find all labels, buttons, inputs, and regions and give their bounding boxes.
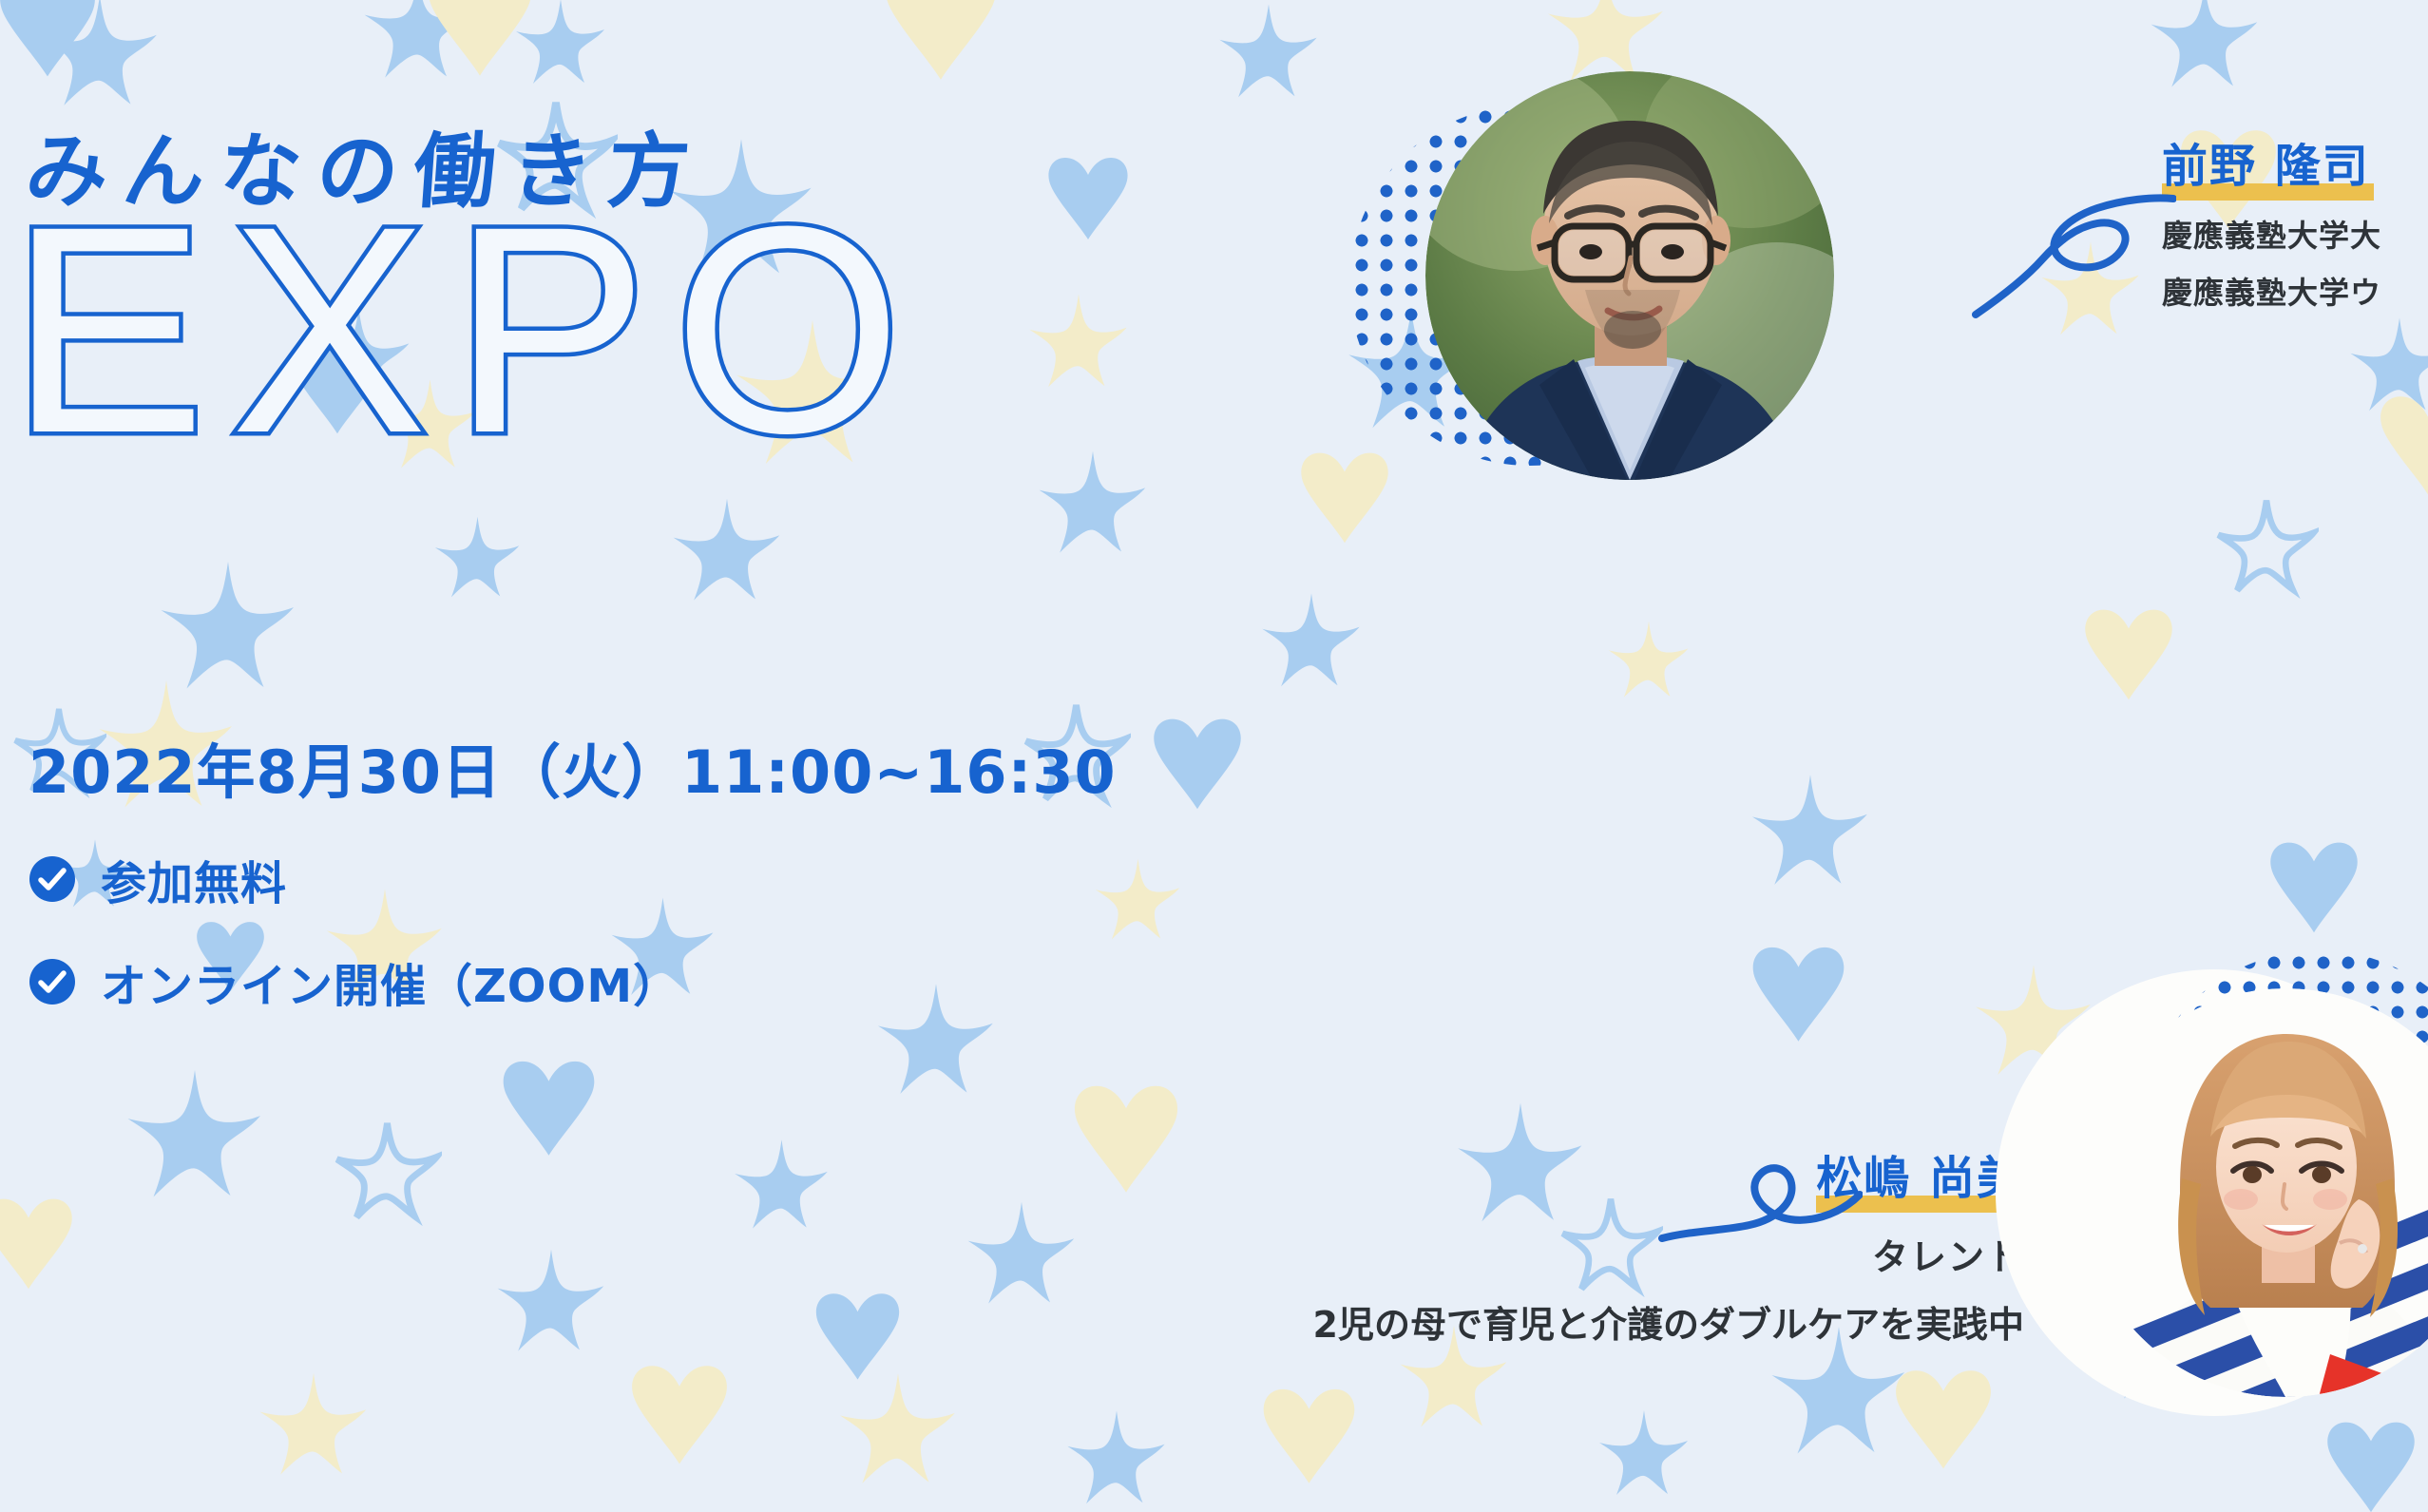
speaker-photo-maeno (1425, 71, 1834, 480)
speaker-name: 前野 隆司 (2162, 128, 2370, 199)
speaker-role: タレント (903, 1228, 2024, 1280)
speaker-info-top: 前野 隆司 慶應義塾大学大 慶應義塾大学ウ (2162, 128, 2381, 313)
bullet-label: オンライン開催（ZOOM） (101, 948, 679, 1015)
speaker-card-bottom: 松嶋 尚美 タレント 2児の母で育児と介護のダブルケアを実践中 (903, 732, 2428, 1511)
speaker-info-bottom: 松嶋 尚美 タレント 2児の母で育児と介護のダブルケアを実践中 (903, 1140, 2024, 1348)
headline-expo: EXPO (10, 182, 927, 477)
check-circle-icon (29, 855, 76, 903)
bullet-label: 参加無料 (101, 846, 287, 912)
list-item: 参加無料 (29, 846, 679, 912)
speaker-affiliation-line-2: 慶應義塾大学ウ (2162, 269, 2381, 313)
speaker-affiliation-line-1: 慶應義塾大学大 (2162, 212, 2381, 256)
list-item: オンライン開催（ZOOM） (29, 948, 679, 1015)
speaker-name: 松嶋 尚美 (1816, 1140, 2024, 1211)
speaker-tagline: 2児の母で育児と介護のダブルケアを実践中 (903, 1295, 2024, 1348)
speaker-card-top: 前野 隆司 慶應義塾大学大 慶應義塾大学ウ (1349, 29, 2428, 485)
event-bullet-list: 参加無料 オンライン開催（ZOOM） (29, 846, 679, 1051)
event-poster: みんなの働き方 EXPO 2022年8月30日（火）11:00~16:30 参加… (0, 0, 2428, 1512)
check-circle-icon (29, 958, 76, 1005)
